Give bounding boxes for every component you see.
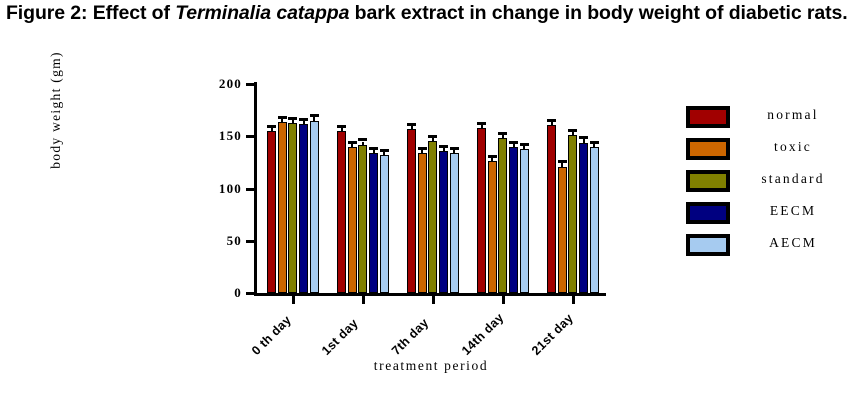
bar[interactable] xyxy=(509,147,518,293)
error-bar-stem xyxy=(362,142,364,145)
error-bar-stem xyxy=(443,148,445,151)
caption-suffix: bark extract in change in body weight of… xyxy=(349,2,847,24)
x-axis-category-label: 1st day xyxy=(319,316,361,358)
bar[interactable] xyxy=(299,124,308,293)
error-bar-stem xyxy=(593,144,595,147)
error-bar-cap xyxy=(477,122,486,125)
y-axis-tick-label: 50 xyxy=(194,233,242,249)
legend-item-label: toxic xyxy=(740,139,846,155)
legend-color-swatch xyxy=(686,170,730,192)
bar[interactable] xyxy=(407,129,416,293)
error-bar-cap xyxy=(278,116,287,119)
x-axis-category-label: 14th day xyxy=(459,310,506,357)
bar[interactable] xyxy=(337,131,346,293)
error-bar-stem xyxy=(292,120,294,123)
legend-color-swatch xyxy=(686,202,730,224)
bar-group xyxy=(477,84,528,293)
error-bar-cap xyxy=(439,145,448,148)
bar[interactable] xyxy=(547,125,556,293)
error-bar-cap xyxy=(358,138,367,141)
x-axis-tick xyxy=(292,296,295,304)
error-bar-stem xyxy=(523,146,525,149)
legend-item[interactable]: normal xyxy=(686,106,846,138)
error-bar-cap xyxy=(579,136,588,139)
error-bar-cap xyxy=(558,160,567,163)
bar[interactable] xyxy=(369,153,378,293)
error-bar-stem xyxy=(551,122,553,125)
legend-item-label: standard xyxy=(740,171,846,187)
bar[interactable] xyxy=(498,138,507,293)
chart-legend: normaltoxicstandardEECMAECM xyxy=(686,106,846,266)
legend-item[interactable]: standard xyxy=(686,170,846,202)
bar-group xyxy=(267,84,318,293)
error-bar-cap xyxy=(428,135,437,138)
error-bar-stem xyxy=(383,152,385,155)
bar[interactable] xyxy=(348,147,357,293)
error-bar-stem xyxy=(421,150,423,153)
bar-group xyxy=(337,84,388,293)
bar[interactable] xyxy=(418,153,427,293)
error-bar-cap xyxy=(407,123,416,126)
x-axis-line xyxy=(254,293,606,296)
error-bar-stem xyxy=(341,128,343,131)
caption-prefix: Figure 2: Effect of xyxy=(6,2,175,24)
legend-item-label: normal xyxy=(740,107,846,123)
error-bar-cap xyxy=(450,147,459,150)
error-bar-stem xyxy=(432,138,434,141)
y-axis-tick-label: 0 xyxy=(194,285,242,301)
bar[interactable] xyxy=(450,153,459,293)
error-bar-stem xyxy=(411,126,413,129)
error-bar-stem xyxy=(491,158,493,161)
error-bar-stem xyxy=(453,150,455,153)
legend-item-label: AECM xyxy=(740,235,846,251)
bar[interactable] xyxy=(380,155,389,293)
error-bar-stem xyxy=(303,121,305,124)
x-axis-tick xyxy=(362,296,365,304)
error-bar-cap xyxy=(418,147,427,150)
error-bar-stem xyxy=(373,150,375,153)
plot-region xyxy=(256,84,606,293)
y-axis-tick xyxy=(246,240,255,243)
legend-color-swatch xyxy=(686,234,730,256)
bar[interactable] xyxy=(428,141,437,293)
figure-caption: Figure 2: Effect of Terminalia catappa b… xyxy=(6,2,846,25)
x-axis-tick xyxy=(432,296,435,304)
error-bar-cap xyxy=(369,147,378,150)
x-axis-tick xyxy=(502,296,505,304)
x-axis-category-label: 7th day xyxy=(389,316,431,358)
x-axis-title: treatment period xyxy=(256,358,606,374)
error-bar-stem xyxy=(502,135,504,138)
bar-group xyxy=(547,84,598,293)
legend-color-swatch xyxy=(686,106,730,128)
bar[interactable] xyxy=(439,151,448,293)
error-bar-cap xyxy=(520,143,529,146)
bar[interactable] xyxy=(520,149,529,293)
y-axis-tick xyxy=(246,188,255,191)
bar-group xyxy=(407,84,458,293)
error-bar-cap xyxy=(337,125,346,128)
x-axis-category-label: 0 th day xyxy=(249,313,294,358)
y-axis-tick xyxy=(246,135,255,138)
bar[interactable] xyxy=(558,167,567,293)
bar[interactable] xyxy=(358,145,367,293)
error-bar-stem xyxy=(271,128,273,131)
bar[interactable] xyxy=(310,121,319,293)
error-bar-cap xyxy=(488,155,497,158)
x-axis-category-label: 21st day xyxy=(529,311,576,358)
error-bar-cap xyxy=(310,114,319,117)
y-axis-tick xyxy=(246,292,255,295)
bar[interactable] xyxy=(278,122,287,293)
bar[interactable] xyxy=(477,128,486,293)
legend-item[interactable]: EECM xyxy=(686,202,846,234)
error-bar-stem xyxy=(481,125,483,128)
error-bar-stem xyxy=(513,144,515,147)
y-axis-tick-label: 150 xyxy=(194,128,242,144)
error-bar-cap xyxy=(568,129,577,132)
bar[interactable] xyxy=(488,161,497,293)
bar-chart: 050100150200 0 th day1st day7th day14th … xyxy=(0,40,852,410)
error-bar-stem xyxy=(351,144,353,147)
bar[interactable] xyxy=(590,147,599,293)
error-bar-cap xyxy=(348,141,357,144)
error-bar-cap xyxy=(267,125,276,128)
y-axis-tick-label: 100 xyxy=(194,181,242,197)
error-bar-stem xyxy=(583,139,585,142)
error-bar-stem xyxy=(572,132,574,135)
y-axis-tick-label: 200 xyxy=(194,76,242,92)
caption-species-name: Terminalia catappa xyxy=(175,2,349,24)
y-axis-tick xyxy=(246,83,255,86)
error-bar-cap xyxy=(380,149,389,152)
error-bar-cap xyxy=(299,118,308,121)
legend-color-swatch xyxy=(686,138,730,160)
bar[interactable] xyxy=(288,123,297,293)
x-axis-tick xyxy=(572,296,575,304)
error-bar-cap xyxy=(547,119,556,122)
legend-item[interactable]: AECM xyxy=(686,234,846,266)
error-bar-cap xyxy=(288,117,297,120)
error-bar-stem xyxy=(561,163,563,166)
error-bar-stem xyxy=(313,117,315,120)
bar[interactable] xyxy=(579,143,588,293)
bar[interactable] xyxy=(267,131,276,293)
error-bar-cap xyxy=(590,141,599,144)
legend-item[interactable]: toxic xyxy=(686,138,846,170)
legend-item-label: EECM xyxy=(740,203,846,219)
bar[interactable] xyxy=(568,135,577,293)
error-bar-stem xyxy=(281,119,283,122)
error-bar-cap xyxy=(498,132,507,135)
y-axis-title: body weight (gm) xyxy=(48,10,64,210)
error-bar-cap xyxy=(509,141,518,144)
